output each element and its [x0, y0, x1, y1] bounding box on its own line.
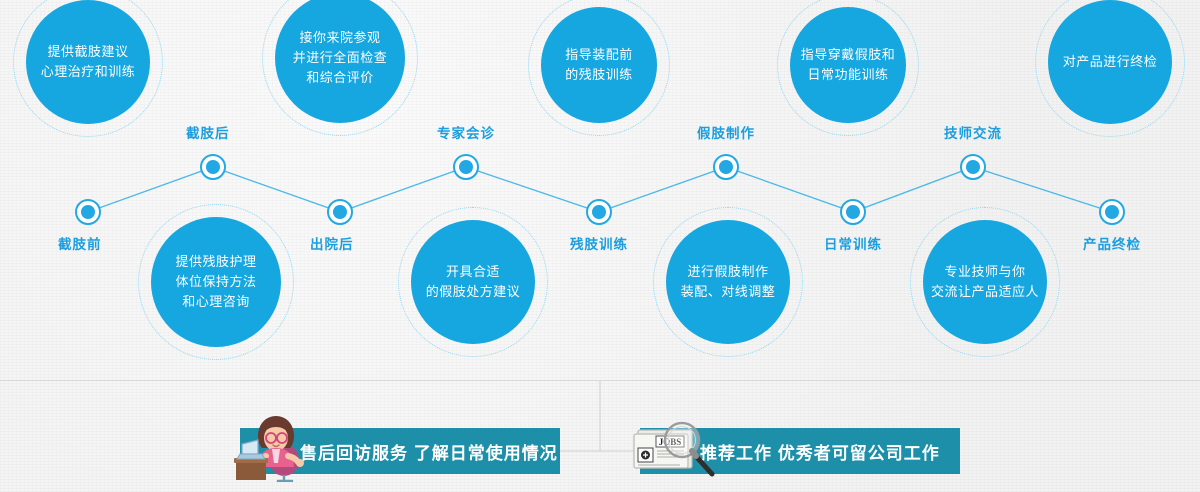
bubble-text: 专业技师与你 交流让产品适应人	[925, 262, 1045, 302]
jobs-magnifier-icon: JOBS	[630, 414, 718, 480]
timeline-node-4[interactable]	[586, 199, 612, 225]
bubble-text: 指导穿戴假肢和 日常功能训练	[795, 45, 902, 85]
timeline-node-8[interactable]	[1099, 199, 1125, 225]
bubble-text: 开具合适 的假肢处方建议	[420, 262, 527, 302]
banner-label: 售后回访服务 了解日常使用情况	[300, 439, 558, 464]
bubble-text: 进行假肢制作 装配、对线调整	[675, 262, 782, 302]
timeline-node-0[interactable]	[75, 199, 101, 225]
bubble-5: 进行假肢制作 装配、对线调整	[666, 220, 790, 344]
timeline-node-2[interactable]	[327, 199, 353, 225]
bubble-2: 接你来院参观 并进行全面检查 和综合评价	[275, 0, 405, 123]
timeline-node-6[interactable]	[840, 199, 866, 225]
bubble-3: 开具合适 的假肢处方建议	[411, 220, 535, 344]
banner-label: 推荐工作 优秀者可留公司工作	[700, 439, 940, 464]
timeline-node-label-7: 技师交流	[944, 122, 1002, 142]
timeline-node-label-0: 截肢前	[58, 233, 102, 253]
timeline-node-label-5: 假肢制作	[697, 122, 755, 142]
section-divider	[0, 380, 1200, 381]
bubble-6: 指导穿戴假肢和 日常功能训练	[790, 7, 906, 123]
bubble-7: 专业技师与你 交流让产品适应人	[923, 220, 1047, 344]
bubble-0: 提供截肢建议 心理治疗和训练	[26, 0, 150, 124]
timeline-node-7[interactable]	[960, 154, 986, 180]
bubble-8: 对产品进行终检	[1048, 0, 1172, 124]
timeline-node-label-2: 出院后	[310, 233, 354, 253]
timeline-node-label-6: 日常训练	[824, 233, 882, 253]
timeline-node-label-8: 产品终检	[1083, 233, 1141, 253]
bubble-text: 接你来院参观 并进行全面检查 和综合评价	[287, 28, 394, 88]
bubble-1: 提供残肢护理 体位保持方法 和心理咨询	[151, 217, 281, 347]
timeline-node-label-3: 专家会诊	[437, 122, 495, 142]
bubble-text: 提供截肢建议 心理治疗和训练	[35, 42, 142, 82]
flowchart-canvas: 提供截肢建议 心理治疗和训练 提供残肢护理 体位保持方法 和心理咨询 接你来院参…	[0, 0, 1200, 492]
woman-at-desk-icon	[232, 410, 318, 482]
bubble-text: 提供残肢护理 体位保持方法 和心理咨询	[169, 252, 262, 312]
bubble-text: 指导装配前 的残肢训练	[559, 45, 639, 85]
timeline-node-1[interactable]	[200, 154, 226, 180]
timeline-node-5[interactable]	[713, 154, 739, 180]
timeline-node-label-4: 残肢训练	[570, 233, 628, 253]
bubble-4: 指导装配前 的残肢训练	[541, 7, 657, 123]
timeline-node-label-1: 截肢后	[186, 122, 230, 142]
bubble-text: 对产品进行终检	[1057, 52, 1164, 72]
timeline-node-3[interactable]	[453, 154, 479, 180]
